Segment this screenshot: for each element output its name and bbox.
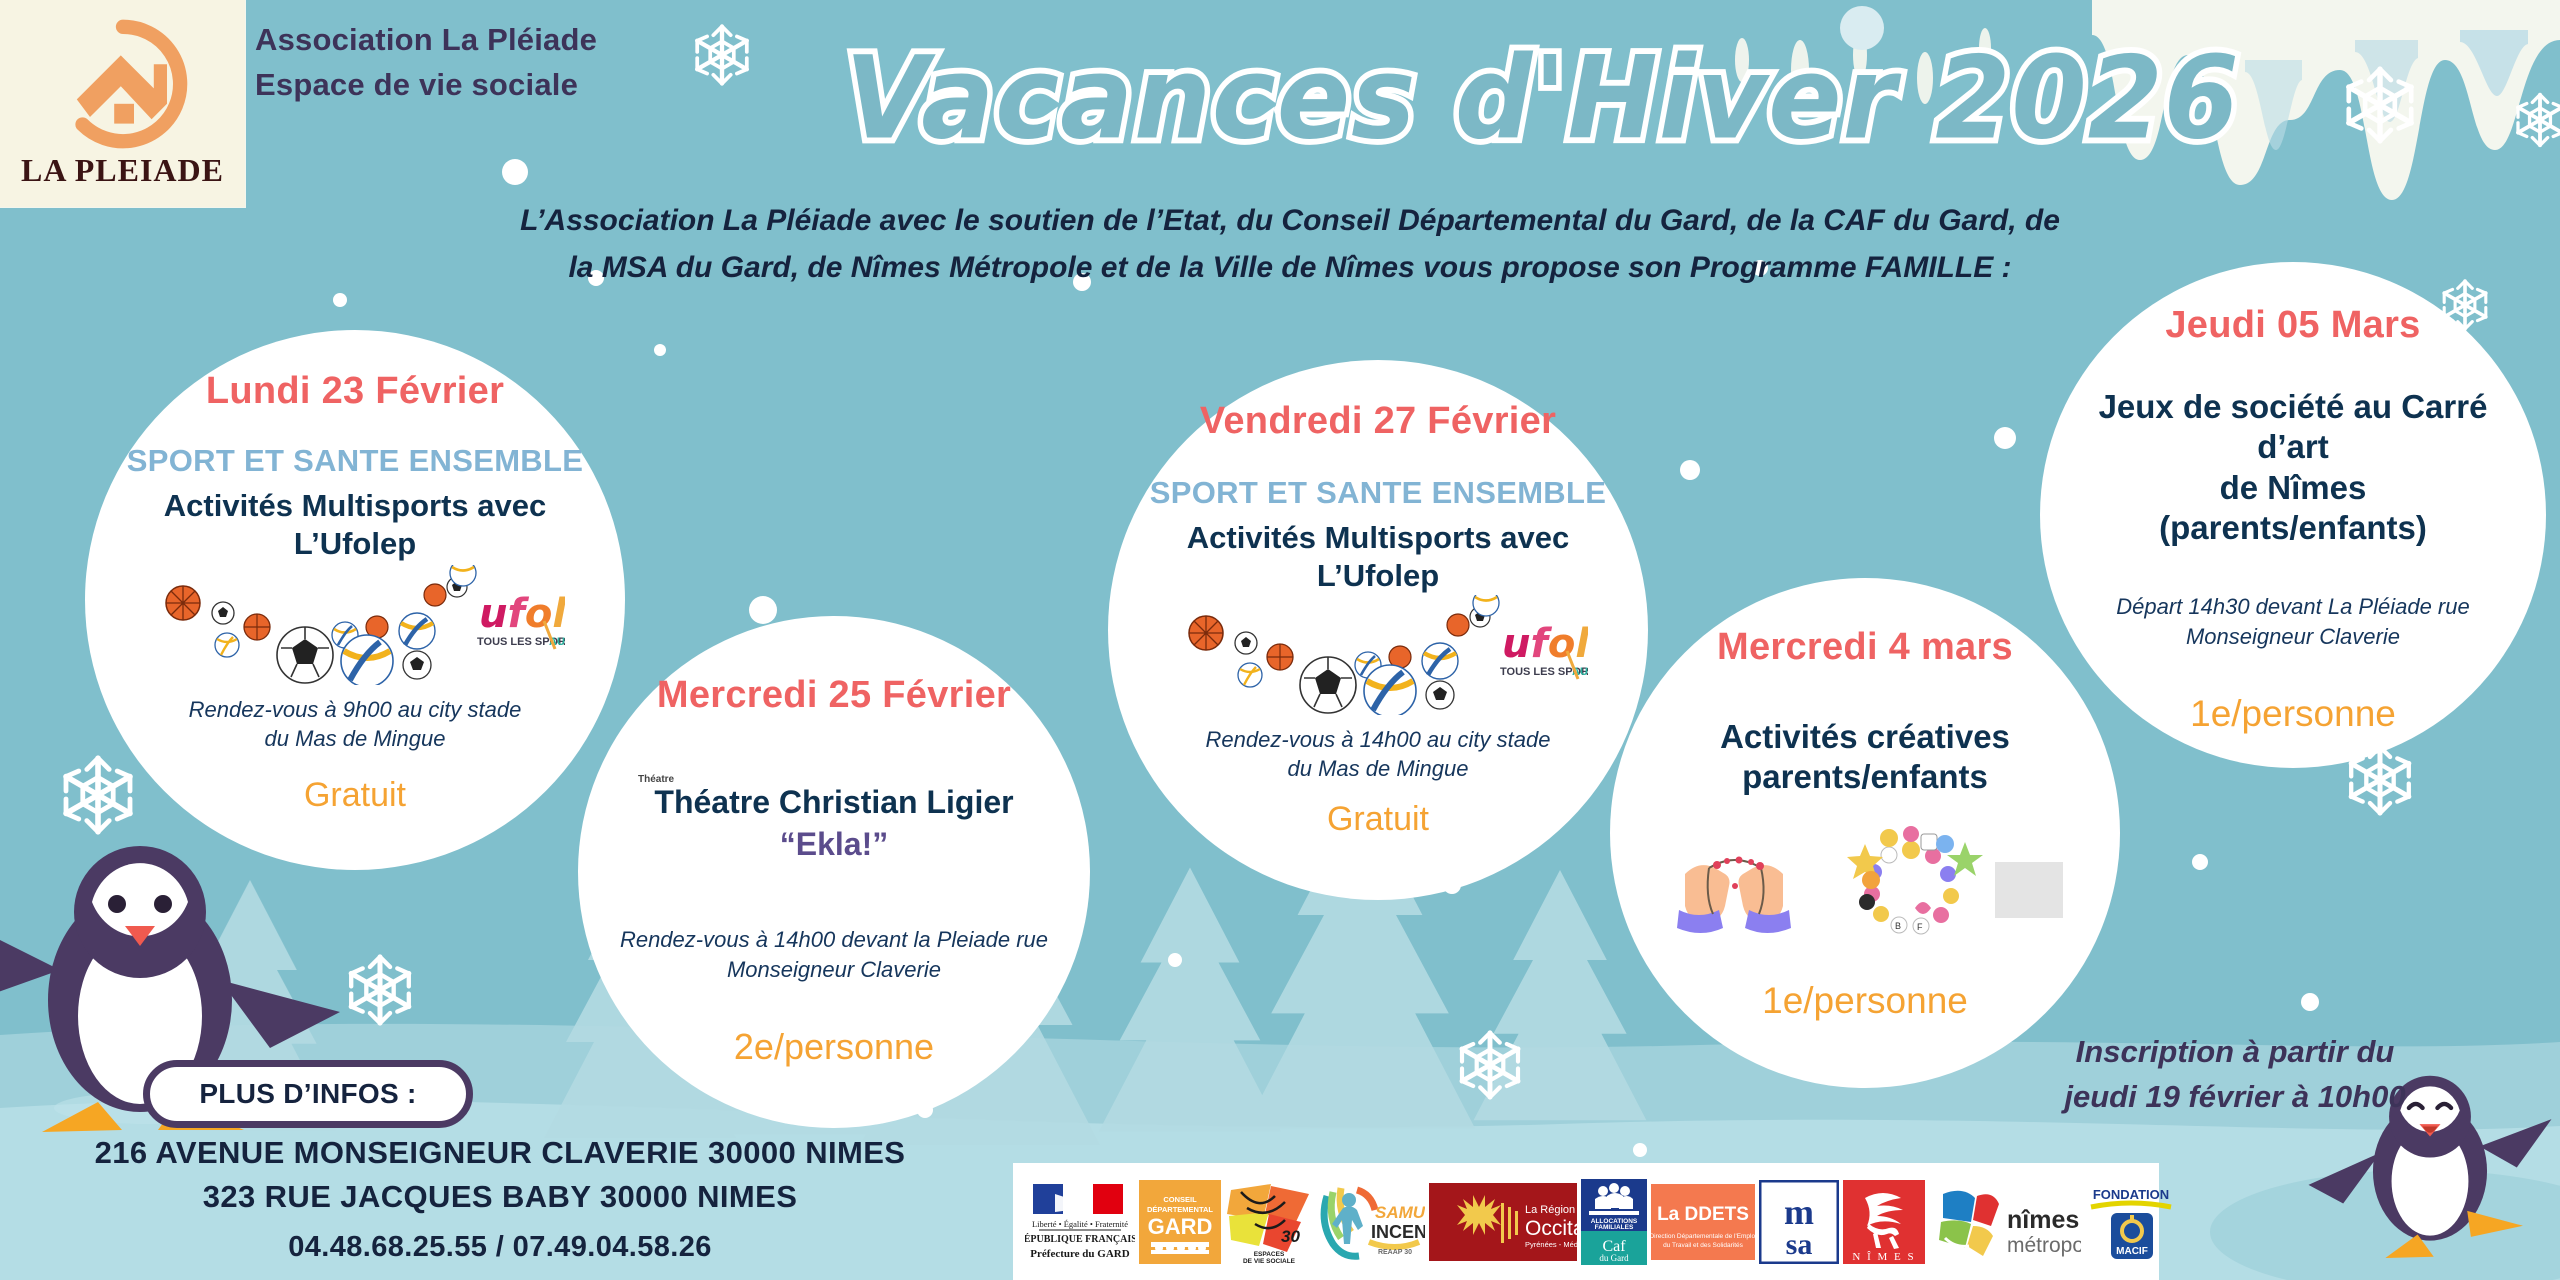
event-title-line-1: Activités Multisports avec (1187, 519, 1569, 557)
intro-paragraph: L’Association La Pléiade avec le soutien… (430, 198, 2150, 291)
svg-text:DE VIE SOCIALE: DE VIE SOCIALE (1243, 1258, 1296, 1264)
event-date: Jeudi 05 Mars (2165, 304, 2420, 347)
contact-block: 216 AVENUE MONSEIGNEUR CLAVERIE 30000 NI… (0, 1135, 1000, 1264)
soccer-ball-icon (1426, 681, 1454, 709)
event-kicker: SPORT ET SANTE ENSEMBLE (127, 443, 583, 479)
event-meet-line-1: Rendez-vous à 9h00 au city stade (189, 695, 522, 725)
event-date: Vendredi 27 Février (1200, 400, 1556, 443)
registration-notice: Inscription à partir du jeudi 19 février… (2010, 1030, 2460, 1120)
svg-text:Préfecture du GARD: Préfecture du GARD (1030, 1248, 1129, 1260)
svg-text:sa: sa (1786, 1228, 1813, 1261)
svg-text:FONDATION: FONDATION (2093, 1187, 2169, 1202)
beading-hands-bracelets: B F (1665, 816, 2065, 946)
volleyball-icon (450, 565, 476, 586)
event-date: Mercredi 4 mars (1717, 626, 2013, 669)
event-title-line-2: L’Ufolep (164, 525, 546, 563)
basketball-icon (166, 586, 200, 620)
volleyball-icon (341, 635, 393, 685)
event-title-line-2: de Nîmes (2066, 468, 2520, 508)
partner-logo-region-occitanie: La Région Occitanie Pyrénées - Méditerra… (1429, 1179, 1577, 1265)
poster-canvas: LA PLEIADE Association La Pléiade Espace… (0, 0, 2560, 1280)
svg-text:ufolep: ufolep (1502, 621, 1588, 667)
volleyball-icon (1422, 643, 1458, 679)
svg-text:du Gard: du Gard (1599, 1253, 1629, 1263)
event-price: 1e/personne (2190, 693, 2396, 735)
volleyball-icon (1473, 595, 1499, 616)
pleiade-wordmark: LA PLEIADE (21, 152, 224, 189)
event-subtitle: “Ekla!” (780, 826, 888, 863)
theatre-small-label: Théatre (638, 774, 674, 785)
bracelet-beads-icon: B F (1847, 826, 1983, 934)
svg-text:INCENT: INCENT (1371, 1222, 1425, 1242)
event-title-line-1: Jeux de société au Carré d’art (2066, 387, 2520, 468)
svg-text:RÉPUBLIQUE FRANÇAISE: RÉPUBLIQUE FRANÇAISE (1025, 1233, 1135, 1245)
event-price: Gratuit (304, 776, 406, 815)
volleyball-icon (399, 613, 435, 649)
pleiade-logo-box: LA PLEIADE (0, 0, 245, 207)
event-price: 1e/personne (1762, 980, 1968, 1022)
address-line-1: 216 AVENUE MONSEIGNEUR CLAVERIE 30000 NI… (0, 1135, 1000, 1171)
event-card-mercredi-25-fevrier[interactable]: Théatre Mercredi 25 Février Théatre Chri… (578, 616, 1090, 1128)
beading-hands-icon (1677, 856, 1791, 933)
event-card-jeudi-05-mars[interactable]: Jeudi 05 Mars Jeux de société au Carré d… (2040, 262, 2546, 768)
event-meet-line-2: Monseigneur Claverie (620, 955, 1048, 985)
partner-logo-prefecture-gard: Liberté • Égalité • Fraternité RÉPUBLIQU… (1025, 1179, 1135, 1265)
partner-logo-conseil-departemental-gard: CONSEIL DÉPARTEMENTAL GARD (1139, 1179, 1221, 1265)
event-title-line-1: Activités Multisports avec (164, 487, 546, 525)
registration-line-1: Inscription à partir du (2010, 1030, 2460, 1075)
svg-text:La DDETS: La DDETS (1657, 1204, 1749, 1225)
event-card-lundi-23-fevrier[interactable]: Lundi 23 Février SPORT ET SANTE ENSEMBLE… (85, 330, 625, 870)
svg-text:FAMILIALES: FAMILIALES (1595, 1224, 1634, 1231)
multisport-balls-ufolep-logo: ufolep TOUS LES SPORTS AUTREMENT (1168, 595, 1588, 715)
association-line-2: Espace de vie sociale (255, 63, 597, 108)
intro-line-1: L’Association La Pléiade avec le soutien… (430, 198, 2150, 245)
event-price: Gratuit (1327, 800, 1429, 839)
event-meet-line-2: du Mas de Mingue (1206, 754, 1551, 784)
basketball-icon (1267, 644, 1293, 670)
svg-text:N Î M E S: N Î M E S (1852, 1251, 1915, 1263)
svg-text:Occitanie: Occitanie (1525, 1217, 1577, 1240)
more-info-label: PLUS D’INFOS : (199, 1078, 416, 1110)
event-date: Mercredi 25 Février (657, 674, 1011, 717)
event-card-mercredi-4-mars[interactable]: Mercredi 4 mars Activités créatives pare… (1610, 578, 2120, 1088)
more-info-button[interactable]: PLUS D’INFOS : (143, 1060, 473, 1128)
partner-logo-evs-30: 30 ESPACES DE VIE SOCIALE (1225, 1179, 1313, 1265)
svg-text:CONSEIL: CONSEIL (1163, 1195, 1197, 1204)
poster-title: Vacances d'Hiver 2026 (845, 42, 2240, 156)
partner-logos-bar: Liberté • Égalité • Fraternité RÉPUBLIQU… (1013, 1163, 2159, 1280)
soccer-ball-icon (1235, 632, 1257, 654)
partner-logo-caf-du-gard: ALLOCATIONS FAMILIALES Caf du Gard (1581, 1179, 1647, 1265)
volleyball-icon (1238, 663, 1262, 687)
partner-logo-nimes-metropole: nîmes métropole (1929, 1179, 2081, 1265)
event-card-vendredi-27-fevrier[interactable]: Vendredi 27 Février SPORT ET SANTE ENSEM… (1108, 360, 1648, 900)
basketball-icon (244, 614, 270, 640)
svg-text:REAAP 30: REAAP 30 (1378, 1249, 1412, 1256)
event-title-line-2: L’Ufolep (1187, 557, 1569, 595)
pleiade-house-circle-logo (57, 18, 189, 150)
svg-text:Direction Départementale de l': Direction Départementale de l'Emploi (1651, 1233, 1755, 1240)
address-line-2: 323 RUE JACQUES BABY 30000 NIMES (0, 1179, 1000, 1215)
svg-text:F: F (1917, 922, 1923, 932)
svg-text:30: 30 (1281, 1227, 1300, 1246)
event-title-line-3: (parents/enfants) (2066, 508, 2520, 548)
ufolep-logo: ufolep TOUS LES SPORTS AUTREMENT (1500, 621, 1588, 679)
event-meet-line-2: du Mas de Mingue (189, 724, 522, 754)
basketball-icon (1189, 616, 1223, 650)
association-line-1: Association La Pléiade (255, 18, 597, 63)
volleyball-icon (1364, 665, 1416, 715)
basketball-icon (424, 584, 446, 606)
event-title-line-1: Activités créatives (1720, 717, 2010, 757)
volleyball-icon (215, 633, 239, 657)
svg-text:du Travail et des Solidarités: du Travail et des Solidarités (1663, 1242, 1744, 1249)
svg-text:ufolep: ufolep (479, 591, 565, 637)
partner-logo-ville-de-nimes: N Î M E S (1843, 1179, 1925, 1265)
svg-text:La Région: La Région (1525, 1204, 1575, 1216)
partner-logo-la-ddets: La DDETS Direction Départementale de l'E… (1651, 1179, 1755, 1265)
ufolep-logo: ufolep TOUS LES SPORTS AUTREMENT (477, 591, 565, 649)
svg-text:Liberté • Égalité • Fraternité: Liberté • Égalité • Fraternité (1032, 1219, 1128, 1229)
svg-text:GARD: GARD (1148, 1214, 1213, 1239)
partner-logo-fondation-macif: FONDATION MACIF (2085, 1179, 2177, 1265)
soccer-ball-icon (212, 602, 234, 624)
svg-text:B: B (1895, 921, 1901, 931)
svg-text:ESPACES: ESPACES (1254, 1251, 1285, 1258)
event-meet-line-1: Rendez-vous à 14h00 devant la Pleiade ru… (620, 925, 1048, 955)
registration-line-2: jeudi 19 février à 10h00 (2010, 1075, 2460, 1120)
event-meet-line-1: Départ 14h30 devant La Pléiade rue (2116, 592, 2469, 622)
multisport-balls-ufolep-logo: ufolep TOUS LES SPORTS AUTREMENT (145, 565, 565, 685)
intro-line-2: la MSA du Gard, de Nîmes Métropole et de… (430, 245, 2150, 292)
partner-logo-msa: m sa (1759, 1179, 1839, 1265)
partner-logo-samuel-vincent: SAMUEL INCENT REAAP 30 (1317, 1179, 1425, 1265)
event-meet-line-1: Rendez-vous à 14h00 au city stade (1206, 725, 1551, 755)
svg-text:MACIF: MACIF (2116, 1246, 2148, 1257)
basketball-icon (1447, 614, 1469, 636)
svg-text:SAMUEL: SAMUEL (1375, 1203, 1425, 1222)
svg-text:Pyrénées - Méditerranée: Pyrénées - Méditerranée (1525, 1240, 1577, 1249)
event-title-line-1: Théatre Christian Ligier (654, 783, 1013, 822)
event-price: 2e/personne (734, 1026, 934, 1068)
event-kicker: SPORT ET SANTE ENSEMBLE (1150, 475, 1606, 511)
soccer-ball-icon (1300, 657, 1356, 713)
svg-text:nîmes: nîmes (2007, 1206, 2079, 1234)
svg-text:métropole: métropole (2007, 1234, 2081, 1257)
phone-numbers[interactable]: 04.48.68.25.55 / 07.49.04.58.26 (0, 1231, 1000, 1264)
event-meet-line-2: Monseigneur Claverie (2116, 622, 2469, 652)
soccer-ball-icon (277, 627, 333, 683)
event-date: Lundi 23 Février (206, 370, 504, 413)
event-title-line-2: parents/enfants (1720, 757, 2010, 797)
svg-text:DÉPARTEMENTAL: DÉPARTEMENTAL (1147, 1205, 1213, 1214)
soccer-ball-icon (403, 651, 431, 679)
svg-text:m: m (1784, 1192, 1814, 1232)
association-name: Association La Pléiade Espace de vie soc… (255, 18, 597, 108)
image-placeholder (1995, 862, 2063, 918)
